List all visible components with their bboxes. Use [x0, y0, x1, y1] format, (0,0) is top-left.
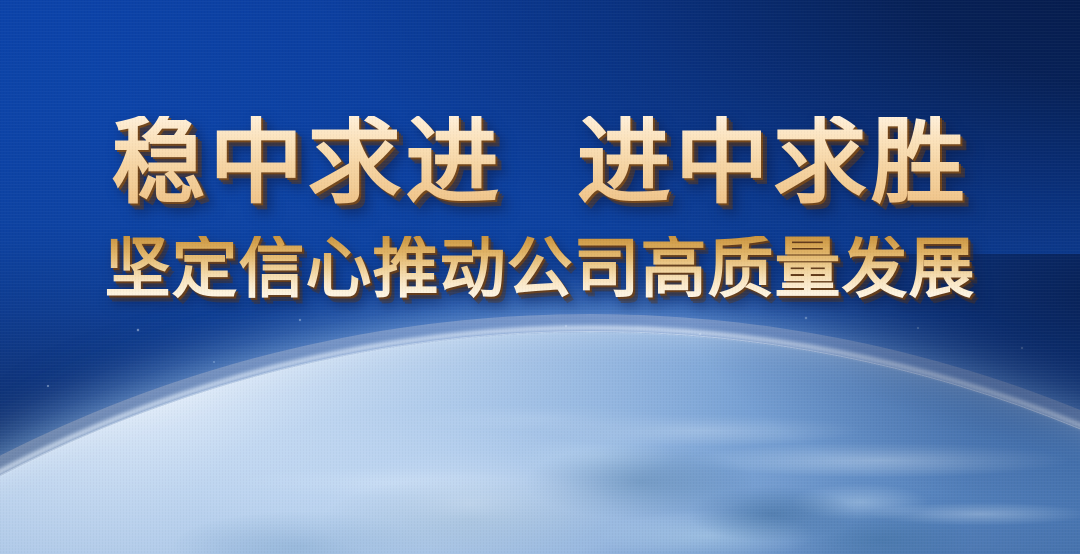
- banner-text-block: 稳中求进 进中求胜 坚定信心推动公司高质量发展: [0, 0, 1080, 360]
- earth-sphere: [0, 332, 1080, 554]
- banner-headline: 稳中求进 进中求胜: [111, 116, 968, 210]
- banner-subheadline: 坚定信心推动公司高质量发展: [105, 236, 976, 302]
- promotional-banner: 稳中求进 进中求胜 坚定信心推动公司高质量发展: [0, 0, 1080, 554]
